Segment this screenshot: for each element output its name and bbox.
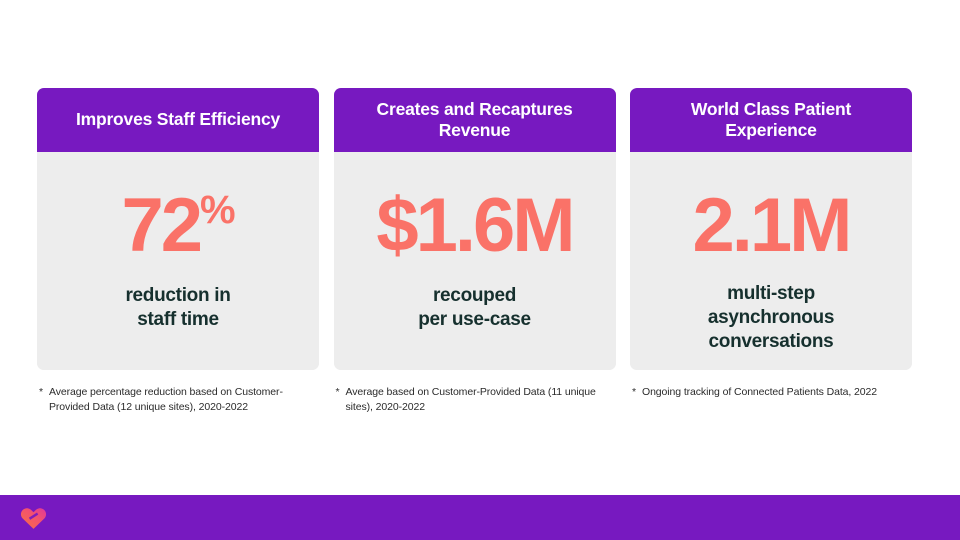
stat-card-2-value: $1.6M — [376, 188, 572, 264]
stat-card-1-caption-line2: staff time — [125, 308, 230, 332]
stat-card-1-footnote-marker: * — [39, 385, 49, 400]
stat-card-3-caption-line1: multi-step — [708, 282, 834, 306]
stat-card-2-title: Creates and Recaptures Revenue — [334, 88, 616, 152]
stat-card-3-caption-line2: asynchronous — [708, 306, 834, 330]
stat-card-3-caption: multi-step asynchronous conversations — [708, 282, 834, 354]
slide-canvas: Improves Staff Efficiency 72% reduction … — [0, 0, 960, 540]
stat-card-2-footnote-marker: * — [336, 385, 346, 400]
stat-card-2-content: $1.6M recouped per use-case — [334, 152, 616, 370]
footer-bar — [0, 495, 960, 540]
stat-card-1-value: 72% — [121, 188, 234, 264]
stat-card-3-footnote: * Ongoing tracking of Connected Patients… — [630, 385, 912, 400]
stat-card-3-footnote-text: Ongoing tracking of Connected Patients D… — [642, 385, 912, 400]
stat-card-1: Improves Staff Efficiency 72% reduction … — [37, 88, 319, 415]
stat-card-2-footnote-text: Average based on Customer-Provided Data … — [346, 385, 616, 415]
heart-logo-icon — [20, 504, 47, 531]
stat-card-3-footnote-marker: * — [632, 385, 642, 400]
stat-card-1-caption-line1: reduction in — [125, 284, 230, 308]
stat-card-1-suffix: % — [200, 188, 235, 232]
stat-cards-row: Improves Staff Efficiency 72% reduction … — [37, 88, 912, 415]
stat-card-2-caption-line1: recouped — [418, 284, 531, 308]
stat-card-3-content: 2.1M multi-step asynchronous conversatio… — [630, 152, 912, 370]
stat-card-2-number: 1.6M — [416, 183, 573, 268]
stat-card-2-caption-line2: per use-case — [418, 308, 531, 332]
stat-card-1-footnote: * Average percentage reduction based on … — [37, 385, 319, 415]
stat-card-1-content: 72% reduction in staff time — [37, 152, 319, 370]
stat-card-1-body-container: Improves Staff Efficiency 72% reduction … — [37, 88, 319, 370]
stat-card-3-title: World Class Patient Experience — [630, 88, 912, 152]
stat-card-3: World Class Patient Experience 2.1M mult… — [630, 88, 912, 400]
stat-card-2-prefix: $ — [376, 183, 415, 268]
stat-card-1-caption: reduction in staff time — [125, 284, 230, 332]
stat-card-1-footnote-text: Average percentage reduction based on Cu… — [49, 385, 319, 415]
stat-card-3-value: 2.1M — [693, 188, 850, 264]
stat-card-1-title: Improves Staff Efficiency — [37, 88, 319, 152]
stat-card-1-number: 72 — [121, 183, 200, 268]
stat-card-3-body-container: World Class Patient Experience 2.1M mult… — [630, 88, 912, 370]
stat-card-2-footnote: * Average based on Customer-Provided Dat… — [334, 385, 616, 415]
stat-card-2-body-container: Creates and Recaptures Revenue $1.6M rec… — [334, 88, 616, 370]
stat-card-2-caption: recouped per use-case — [418, 284, 531, 332]
stat-card-2: Creates and Recaptures Revenue $1.6M rec… — [334, 88, 616, 415]
stat-card-3-number: 2.1M — [693, 183, 850, 268]
stat-card-3-caption-line3: conversations — [708, 330, 834, 354]
